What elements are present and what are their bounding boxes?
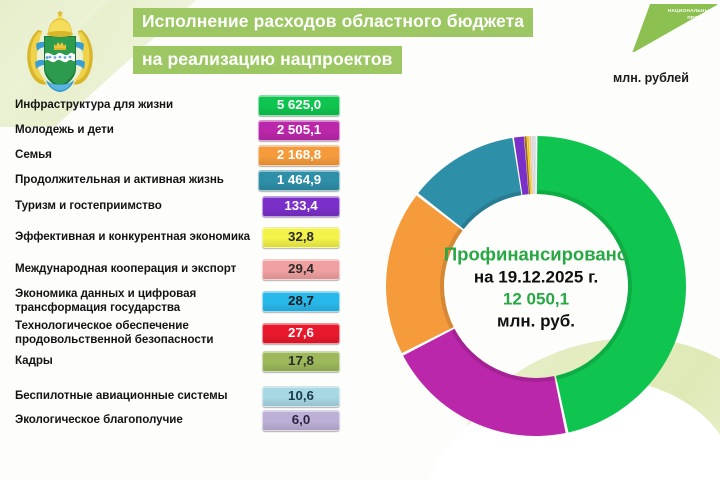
legend-row: Технологическое обеспечение продовольств… (15, 318, 340, 348)
legend-row-value-badge: 1 464,9 (258, 170, 340, 191)
legend-row-label: Экономика данных и цифровая трансформаци… (15, 287, 256, 315)
legend-row: Семья2 168,8 (15, 146, 340, 164)
legend-row: Продолжительная и активная жизнь1 464,9 (15, 171, 340, 189)
legend-row-label: Семья (15, 148, 252, 162)
legend-row-value-badge: 133,4 (262, 196, 340, 217)
unit-label: млн. рублей (613, 71, 689, 85)
legend-row-label: Международная кооперация и экспорт (15, 262, 256, 276)
center-line-1: Профинансировано (436, 243, 636, 265)
legend-row-value-badge: 2 505,1 (258, 120, 340, 141)
legend-row-label: Инфраструктура для жизни (15, 98, 252, 112)
legend-row-value-badge: 28,7 (262, 291, 340, 312)
legend-row: Экономика данных и цифровая трансформаци… (15, 286, 340, 316)
center-line-3: 12 050,1 (436, 289, 636, 311)
donut-slice (403, 329, 566, 436)
legend-row-value-badge: 27,6 (262, 323, 340, 344)
logo-text-line-3: РОССИИ (668, 22, 713, 29)
legend-row: Международная кооперация и экспорт29,4 (15, 254, 340, 284)
legend-row-label: Экологическое благополучие (15, 413, 256, 427)
legend-row: Кадры17,8 (15, 352, 340, 370)
coat-of-arms-icon (16, 10, 104, 94)
legend-row: Эффективная и конкурентная экономика32,8 (15, 222, 340, 252)
legend-row-value-badge: 10,6 (262, 386, 340, 407)
legend-row-label: Эффективная и конкурентная экономика (15, 230, 256, 244)
legend-row-value-badge: 32,8 (262, 227, 340, 248)
legend-row-value-badge: 17,8 (262, 351, 340, 372)
legend-row-label: Туризм и гостеприимство (15, 199, 256, 213)
national-projects-logo: НАЦИОНАЛЬНЫЕ ПРОЕКТЫ РОССИИ (629, 4, 717, 52)
legend-row-value-badge: 2 168,8 (258, 145, 340, 166)
infographic-root: Исполнение расходов областного бюджета н… (0, 0, 720, 480)
logo-text-line-2: ПРОЕКТЫ (668, 15, 713, 22)
legend-row: Беспилотные авиационные системы10,6 (15, 381, 340, 411)
legend-row-value-badge: 6,0 (262, 410, 340, 431)
donut-center-label: Профинансировано на 19.12.2025 г. 12 050… (436, 243, 636, 332)
center-line-2: на 19.12.2025 г. (436, 266, 636, 288)
donut-chart: Профинансировано на 19.12.2025 г. 12 050… (352, 96, 720, 480)
legend-row: Туризм и гостеприимство133,4 (15, 197, 340, 215)
legend-row-value-badge: 29,4 (262, 259, 340, 280)
legend-row-label: Технологическое обеспечение продовольств… (15, 319, 256, 347)
title-block: Исполнение расходов областного бюджета н… (133, 8, 533, 74)
legend-row-value-badge: 5 625,0 (258, 95, 340, 116)
legend-row: Молодежь и дети2 505,1 (15, 121, 340, 139)
legend-row: Экологическое благополучие6,0 (15, 411, 340, 429)
legend-row-label: Беспилотные авиационные системы (15, 389, 256, 403)
legend-row: Инфраструктура для жизни5 625,0 (15, 96, 340, 114)
legend-row-label: Продолжительная и активная жизнь (15, 173, 252, 187)
legend-row-label: Молодежь и дети (15, 123, 252, 137)
logo-text: НАЦИОНАЛЬНЫЕ ПРОЕКТЫ РОССИИ (668, 8, 713, 29)
donut-slice (535, 136, 536, 194)
logo-text-line-1: НАЦИОНАЛЬНЫЕ (668, 8, 713, 15)
center-line-4: млн. руб. (436, 311, 636, 333)
page-title-line-2: на реализацию нацпроектов (133, 46, 402, 75)
page-title-line-1: Исполнение расходов областного бюджета (133, 8, 533, 37)
legend-row-label: Кадры (15, 354, 256, 368)
